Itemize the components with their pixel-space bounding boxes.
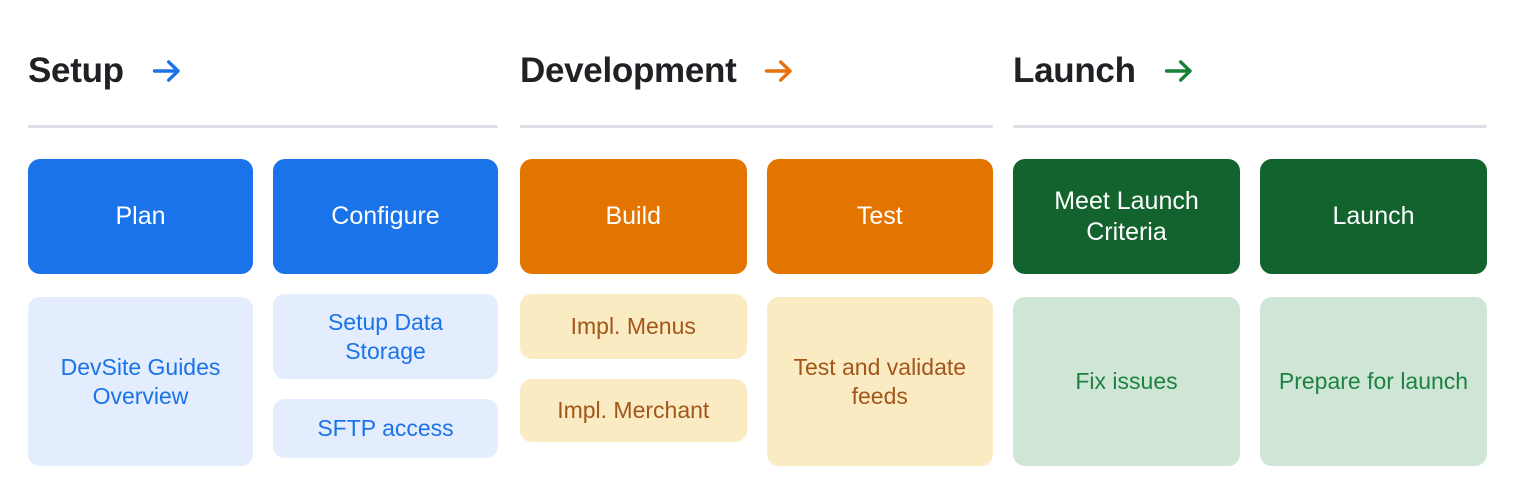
secondary-card-devsite-guides-overview[interactable]: DevSite Guides Overview	[28, 297, 253, 466]
phase-header-development: Development	[520, 0, 993, 125]
roadmap-board: Setup Plan DevSite Guides Overview Confi…	[0, 0, 1518, 484]
phase-title-launch: Launch	[1013, 53, 1136, 88]
track-configure: Configure Setup Data Storage SFTP access	[273, 159, 498, 458]
phase-header-launch: Launch	[1013, 0, 1487, 125]
track-build: Build Impl. Menus Impl. Merchant	[520, 159, 747, 442]
primary-card-launch[interactable]: Launch	[1260, 159, 1487, 274]
phase-divider-development	[520, 125, 993, 128]
primary-card-build[interactable]: Build	[520, 159, 747, 274]
primary-card-configure[interactable]: Configure	[273, 159, 498, 274]
primary-card-meet-launch-criteria[interactable]: Meet Launch Criteria	[1013, 159, 1240, 274]
secondary-card-setup-data-storage[interactable]: Setup Data Storage	[273, 294, 498, 379]
secondary-card-fix-issues[interactable]: Fix issues	[1013, 297, 1240, 466]
phase-cards-launch: Meet Launch Criteria Fix issues Launch P…	[1013, 159, 1487, 466]
track-plan: Plan DevSite Guides Overview	[28, 159, 253, 466]
phase-cards-development: Build Impl. Menus Impl. Merchant Test Te…	[520, 159, 993, 466]
track-test: Test Test and validate feeds	[767, 159, 994, 466]
phase-divider-setup	[28, 125, 498, 128]
track-meet-launch-criteria: Meet Launch Criteria Fix issues	[1013, 159, 1240, 466]
secondary-card-sftp-access[interactable]: SFTP access	[273, 399, 498, 458]
phase-title-setup: Setup	[28, 53, 124, 88]
secondary-card-impl-merchant[interactable]: Impl. Merchant	[520, 379, 747, 442]
phase-header-setup: Setup	[28, 0, 498, 125]
phase-title-development: Development	[520, 53, 736, 88]
arrow-right-icon	[1162, 54, 1196, 88]
primary-card-test[interactable]: Test	[767, 159, 994, 274]
secondary-card-prepare-for-launch[interactable]: Prepare for launch	[1260, 297, 1487, 466]
phase-column-development: Development Build Impl. Menus Impl. Merc…	[520, 0, 993, 466]
arrow-right-icon	[762, 54, 796, 88]
phase-column-launch: Launch Meet Launch Criteria Fix issues L…	[1013, 0, 1487, 466]
phase-cards-setup: Plan DevSite Guides Overview Configure S…	[28, 159, 498, 466]
phase-column-setup: Setup Plan DevSite Guides Overview Confi…	[28, 0, 498, 466]
phase-divider-launch	[1013, 125, 1487, 128]
secondary-card-test-and-validate-feeds[interactable]: Test and validate feeds	[767, 297, 994, 466]
secondary-card-impl-menus[interactable]: Impl. Menus	[520, 294, 747, 359]
primary-card-plan[interactable]: Plan	[28, 159, 253, 274]
track-launch: Launch Prepare for launch	[1260, 159, 1487, 466]
arrow-right-icon	[150, 54, 184, 88]
